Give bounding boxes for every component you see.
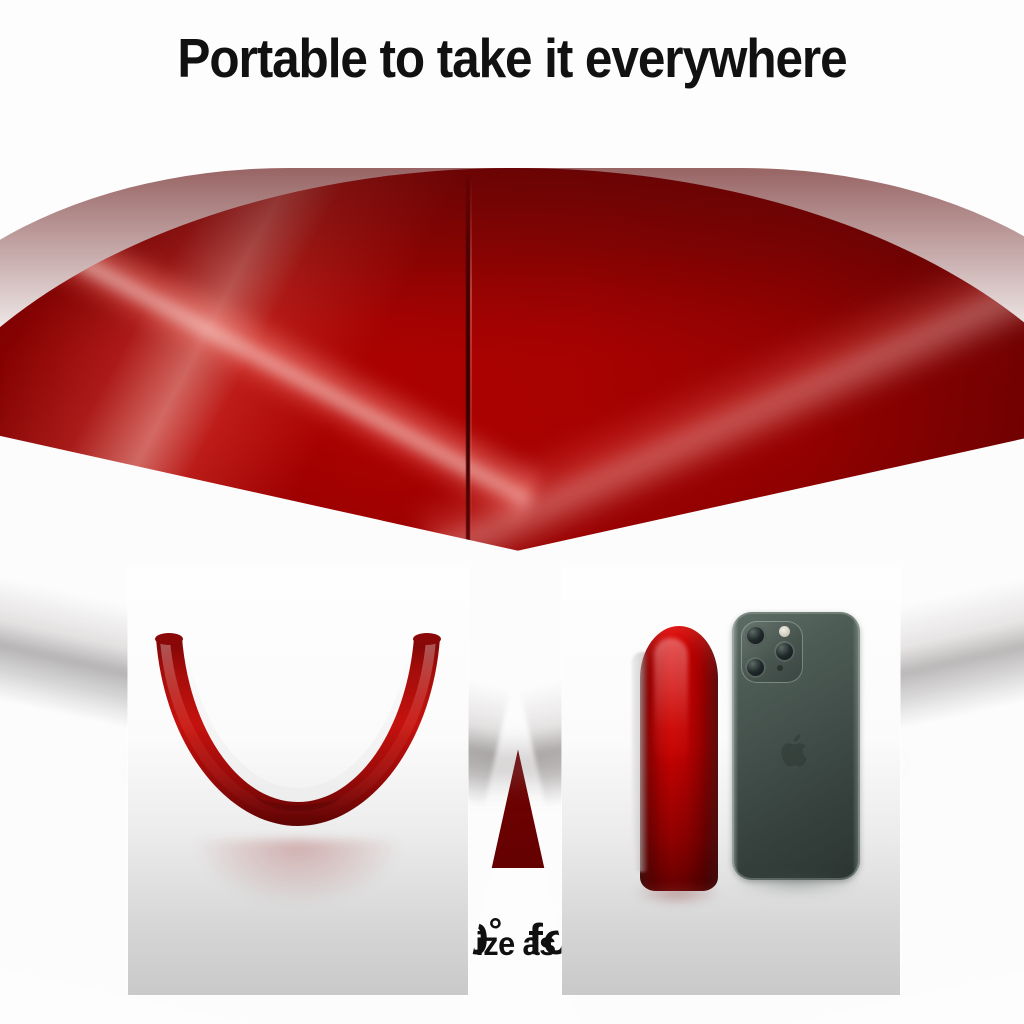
reference-phone xyxy=(732,612,860,880)
hero-device-hinge-highlight xyxy=(470,178,472,558)
phone-microphone-icon xyxy=(777,665,783,671)
folded-device-clear-edge xyxy=(632,652,648,872)
phone-camera-module xyxy=(741,621,803,683)
folded-device-standing xyxy=(630,626,720,891)
phone-camera-lens xyxy=(745,625,766,646)
inset-panel-fold xyxy=(128,568,468,995)
folded-device-gloss xyxy=(654,638,688,768)
inset-panel-size-comparison xyxy=(562,568,900,995)
folded-device-u-shape-icon xyxy=(142,620,454,860)
phone-camera-lens xyxy=(745,657,766,678)
phone-camera-lens xyxy=(774,641,795,662)
page-title: Portable to take it everywhere xyxy=(51,26,973,90)
folded-device-shadow xyxy=(634,884,720,906)
product-image-canvas: Portable to take it everywhere xyxy=(0,0,1024,1024)
reference-phone-shadow xyxy=(734,874,860,896)
apple-logo-icon xyxy=(781,734,811,768)
phone-flash-icon xyxy=(779,626,790,637)
folded-device-reflection xyxy=(192,840,404,906)
